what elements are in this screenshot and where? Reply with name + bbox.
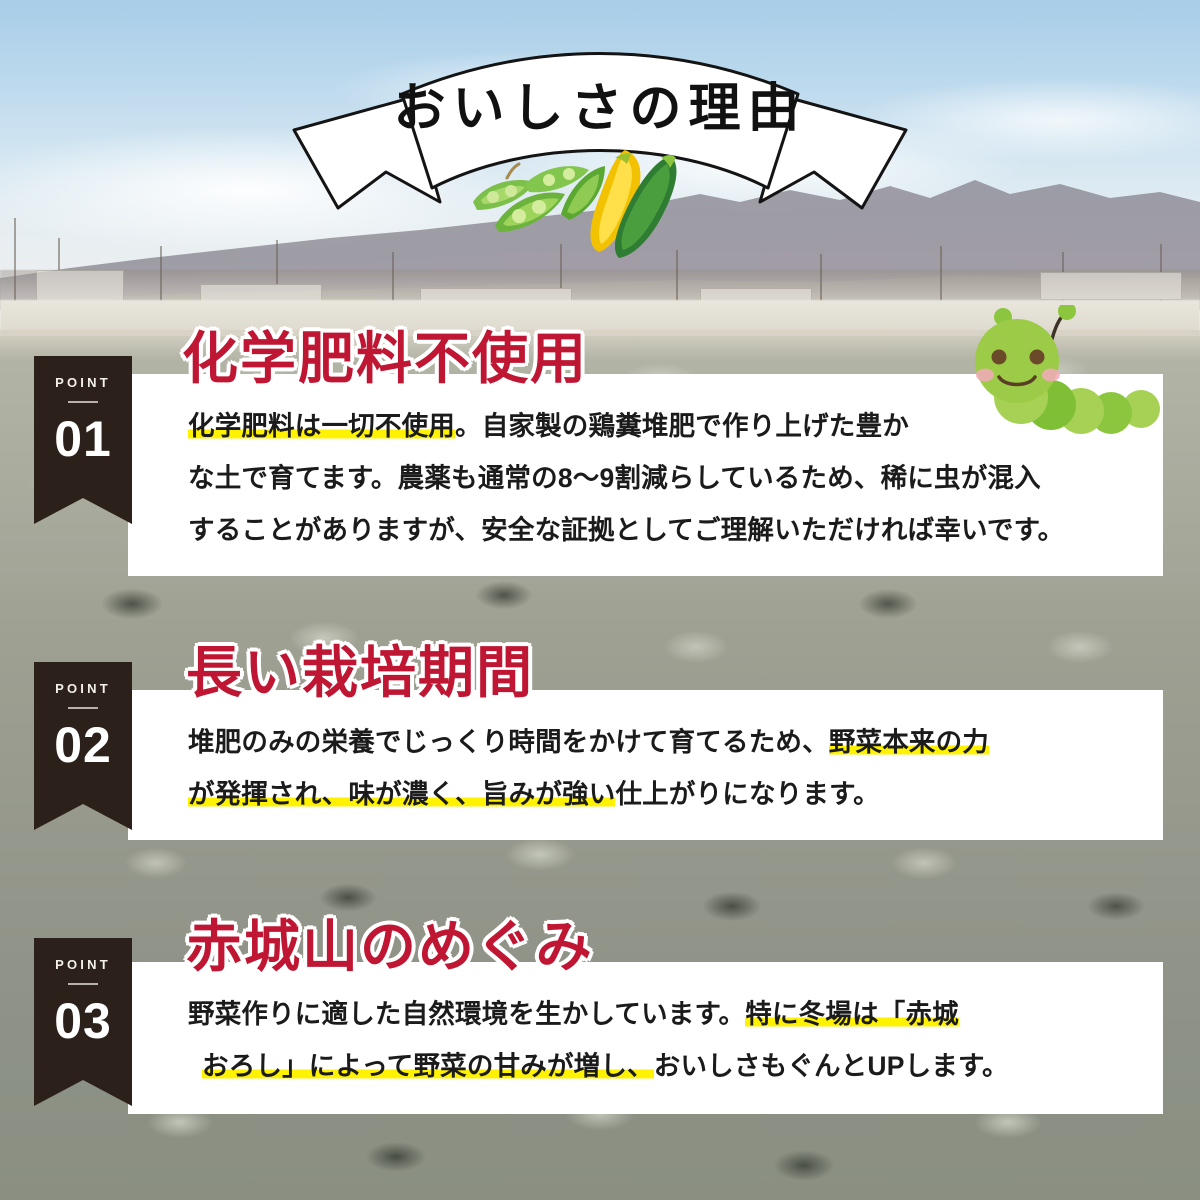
- highlight-text: おろし」によって野菜の甘みが増し、: [202, 1051, 654, 1081]
- point-badge-01: POINT 01: [34, 356, 132, 498]
- point-badge-03: POINT 03: [34, 938, 132, 1080]
- plain-text: おいしさもぐんとUPします。: [654, 1051, 1009, 1081]
- caterpillar-icon: [955, 305, 1185, 440]
- point-badge-rule-01: [68, 401, 98, 403]
- plain-text: な土で育てます。農薬も通常の8〜9割減らしているため、稀に虫が混入: [188, 463, 1041, 493]
- point-body-03: 野菜作りに適した自然環境を生かしています。特に冬場は「赤城 おろし」によって野菜…: [188, 988, 1009, 1092]
- point-body-line: 化学肥料は一切不使用。自家製の鶏糞堆肥で作り上げた豊か: [188, 400, 1064, 452]
- plain-text: 。自家製の鶏糞堆肥で作り上げた豊か: [455, 411, 909, 441]
- point-badge-number-02: 02: [54, 720, 112, 770]
- point-heading-02: 長い栽培期間: [186, 628, 534, 709]
- point-badge-rule-02: [68, 707, 98, 709]
- point-heading-03: 赤城山のめぐみ: [186, 902, 594, 983]
- plain-text: 仕上がりになります。: [615, 779, 879, 809]
- highlight-text: 特に冬場は「赤城: [745, 999, 959, 1029]
- highlight-text: が発揮され、味が濃く、旨みが強い: [188, 779, 615, 809]
- point-body-line: 堆肥のみの栄養でじっくり時間をかけて育てるため、野菜本来の力: [188, 716, 989, 768]
- point-body-line: おろし」によって野菜の甘みが増し、おいしさもぐんとUPします。: [188, 1040, 1009, 1092]
- point-body-line: な土で育てます。農薬も通常の8〜9割減らしているため、稀に虫が混入: [188, 452, 1064, 504]
- point-badge-label-03: POINT: [55, 957, 111, 972]
- vegetables-illustration: [465, 140, 680, 265]
- page-title: おいしさの理由: [393, 66, 806, 141]
- plain-text: 野菜作りに適した自然環境を生かしています。: [188, 999, 745, 1029]
- point-badge-label-01: POINT: [55, 375, 111, 390]
- point-heading-01: 化学肥料不使用: [182, 314, 588, 395]
- point-badge-label-02: POINT: [55, 681, 111, 696]
- highlight-text: 化学肥料は一切不使用: [188, 411, 455, 441]
- edamame-pods: [473, 164, 605, 232]
- plain-text: 堆肥のみの栄養でじっくり時間をかけて育てるため、: [188, 727, 829, 757]
- point-badge-number-01: 01: [54, 414, 112, 464]
- point-body-line: 野菜作りに適した自然環境を生かしています。特に冬場は「赤城: [188, 988, 1009, 1040]
- promo-graphic: おいしさの理由: [0, 0, 1200, 1200]
- point-body-line: が発揮され、味が濃く、旨みが強い仕上がりになります。: [188, 768, 989, 820]
- point-body-line: することがありますが、安全な証拠としてご理解いただければ幸いです。: [188, 504, 1064, 556]
- point-badge-02: POINT 02: [34, 662, 132, 804]
- point-body-02: 堆肥のみの栄養でじっくり時間をかけて育てるため、野菜本来の力 が発揮され、味が濃…: [188, 716, 989, 820]
- point-badge-rule-03: [68, 983, 98, 985]
- point-badge-number-03: 03: [54, 996, 112, 1046]
- highlight-text: 野菜本来の力: [829, 727, 989, 757]
- point-body-01: 化学肥料は一切不使用。自家製の鶏糞堆肥で作り上げた豊か な土で育てます。農薬も通…: [188, 400, 1064, 556]
- plain-text: することがありますが、安全な証拠としてご理解いただければ幸いです。: [188, 515, 1064, 545]
